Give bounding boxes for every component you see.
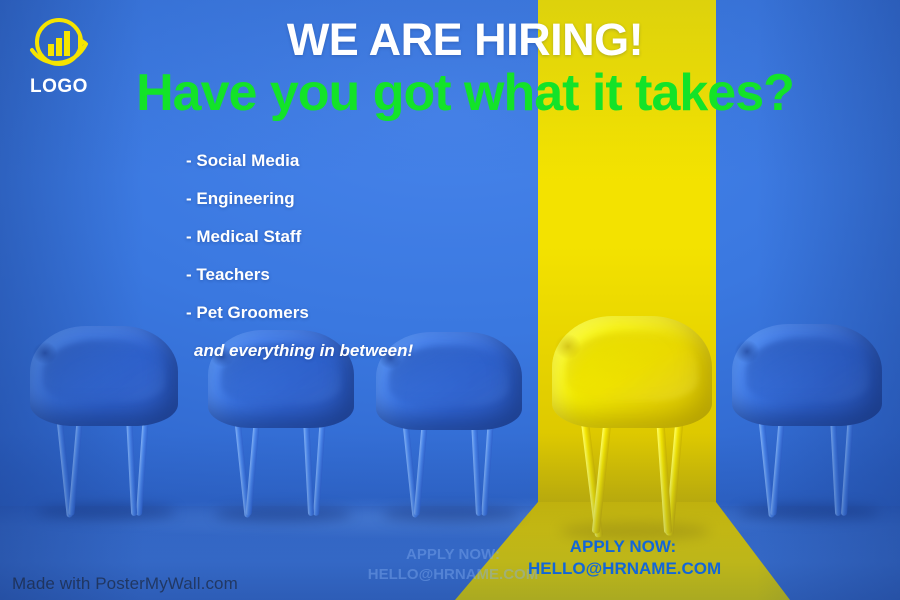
chair-5-arm-notch xyxy=(735,340,759,362)
job-list-footer: and everything in between! xyxy=(186,342,516,359)
chair-5-seat-shade xyxy=(746,338,869,401)
cta-ghost-duplicate: APPLY NOW: HELLO@HRNAME.COM xyxy=(358,545,548,585)
chair-4-arm-notch xyxy=(555,334,581,359)
chair-1-seat-shade xyxy=(43,340,164,402)
chair-1-shell xyxy=(30,326,178,426)
headline-subtitle: Have you got what it takes? xyxy=(60,66,870,121)
cta-block: APPLY NOW: HELLO@HRNAME.COM xyxy=(528,536,718,581)
cta-email[interactable]: HELLO@HRNAME.COM xyxy=(528,558,718,580)
chair-1 xyxy=(30,326,178,426)
chair-3-shadow xyxy=(382,506,520,522)
chair-1-shadow xyxy=(36,504,176,520)
hiring-poster: LOGO WE ARE HIRING! Have you got what it… xyxy=(0,0,900,600)
job-list: - Social Media - Engineering - Medical S… xyxy=(186,152,516,359)
job-list-item: - Medical Staff xyxy=(186,228,516,245)
chair-4-highlight xyxy=(552,316,712,428)
cta-label: APPLY NOW: xyxy=(528,536,718,558)
cta-ghost-email: HELLO@HRNAME.COM xyxy=(358,565,548,585)
chair-5 xyxy=(732,324,882,426)
chair-4-seat-shade xyxy=(566,332,697,401)
chair-5-shell xyxy=(732,324,882,426)
cta-ghost-label: APPLY NOW: xyxy=(358,545,548,565)
chair-2-shadow xyxy=(214,506,352,522)
chair-4-shell xyxy=(552,316,712,428)
headline-title: WE ARE HIRING! xyxy=(120,16,810,63)
postermywall-watermark: Made with PosterMyWall.com xyxy=(12,574,238,594)
job-list-item: - Engineering xyxy=(186,190,516,207)
job-list-item: - Teachers xyxy=(186,266,516,283)
job-list-item: - Social Media xyxy=(186,152,516,169)
chair-1-arm-notch xyxy=(33,342,57,364)
job-list-item: - Pet Groomers xyxy=(186,304,516,321)
chair-5-shadow xyxy=(738,504,880,520)
